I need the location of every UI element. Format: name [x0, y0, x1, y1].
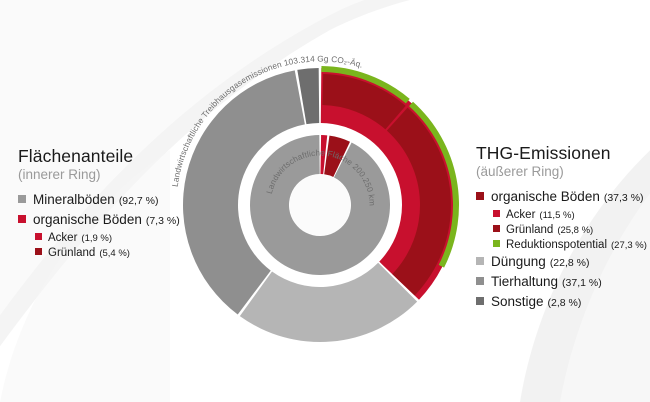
- legend-swatch-icon: [476, 257, 484, 265]
- legend-swatch-icon: [493, 240, 500, 247]
- legend-item-tierhaltung: Tierhaltung(37,1 %): [476, 274, 648, 289]
- legend-left-items: Mineralböden(92,7 %)organische Böden(7,3…: [18, 192, 193, 259]
- legend-right-title: THG-Emissionen: [476, 143, 648, 163]
- legend-item-acker: Acker(1,9 %): [35, 232, 193, 244]
- legend-swatch-icon: [18, 215, 26, 223]
- legend-item-label: Sonstige: [491, 294, 544, 309]
- legend-swatch-icon: [35, 233, 42, 240]
- legend-swatch-icon: [476, 277, 484, 285]
- legend-item-value: (22,8 %): [550, 257, 590, 269]
- legend-swatch-icon: [476, 297, 484, 305]
- legend-right-items: organische Böden(37,3 %)Acker(11,5 %)Grü…: [476, 189, 648, 309]
- legend-item-label: Acker: [48, 232, 77, 244]
- legend-swatch-icon: [18, 195, 26, 203]
- legend-swatch-icon: [493, 225, 500, 232]
- legend-flaechenanteile: Flächenanteile (innerer Ring) Mineralböd…: [18, 146, 193, 262]
- legend-swatch-icon: [35, 248, 42, 255]
- legend-item-düngung: Düngung(22,8 %): [476, 254, 648, 269]
- legend-item-label: Reduktionspotential: [506, 239, 607, 251]
- legend-item-value: (5,4 %): [99, 248, 130, 259]
- legend-item-label: Düngung: [491, 254, 546, 269]
- legend-item-value: (37,3 %): [604, 192, 644, 204]
- legend-item-organische-böden: organische Böden(37,3 %): [476, 189, 648, 204]
- donut-center-hole: [290, 175, 351, 236]
- legend-item-value: (27,3 %): [611, 240, 647, 251]
- chart-rings: [183, 66, 459, 342]
- legend-item-mineralböden: Mineralböden(92,7 %): [18, 192, 193, 207]
- legend-item-sonstige: Sonstige(2,8 %): [476, 294, 648, 309]
- legend-left-subtitle: (innerer Ring): [18, 167, 193, 183]
- legend-item-value: (37,1 %): [562, 277, 602, 289]
- legend-thg-emissionen: THG-Emissionen (äußerer Ring) organische…: [476, 143, 648, 314]
- legend-swatch-icon: [493, 210, 500, 217]
- legend-item-label: Acker: [506, 209, 535, 221]
- legend-item-label: Mineralböden: [33, 192, 115, 207]
- legend-swatch-icon: [476, 192, 484, 200]
- legend-item-acker: Acker(11,5 %): [493, 209, 648, 221]
- legend-item-value: (7,3 %): [146, 215, 180, 227]
- legend-item-value: (1,9 %): [81, 233, 112, 244]
- legend-item-label: Grünland: [506, 224, 553, 236]
- legend-item-value: (11,5 %): [539, 210, 574, 221]
- legend-item-label: organische Böden: [491, 189, 600, 204]
- legend-right-subtitle: (äußerer Ring): [476, 164, 648, 180]
- legend-item-value: (2,8 %): [548, 297, 582, 309]
- legend-item-organische-böden: organische Böden(7,3 %): [18, 212, 193, 227]
- legend-item-value: (25,8 %): [557, 225, 593, 236]
- legend-item-label: organische Böden: [33, 212, 142, 227]
- infographic-canvas: Landwirtschaftliche Treibhausgasemission…: [0, 0, 650, 402]
- legend-item-grünland: Grünland(25,8 %): [493, 224, 648, 236]
- legend-item-reduktionspotential: Reduktionspotential(27,3 %): [493, 239, 648, 251]
- legend-item-label: Grünland: [48, 247, 95, 259]
- legend-left-title: Flächenanteile: [18, 146, 193, 166]
- legend-item-label: Tierhaltung: [491, 274, 558, 289]
- legend-item-value: (92,7 %): [119, 195, 159, 207]
- legend-item-grünland: Grünland(5,4 %): [35, 247, 193, 259]
